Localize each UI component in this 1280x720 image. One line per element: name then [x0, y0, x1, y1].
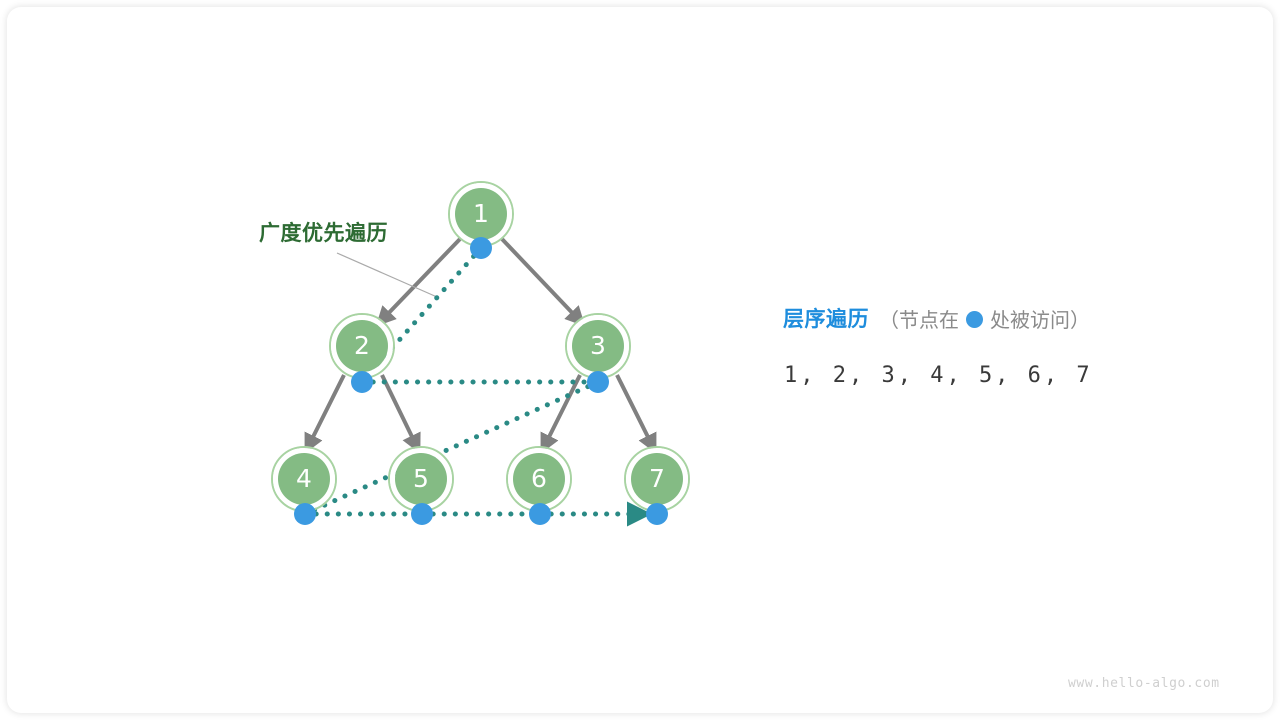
visit-dot-icon-5	[411, 503, 433, 525]
visit-dot-icon-7	[646, 503, 668, 525]
tree-node-6[interactable]: 6	[507, 447, 571, 511]
node-label: 5	[413, 464, 429, 493]
bfs-annotation-label: 广度优先遍历	[259, 217, 388, 247]
node-label: 3	[590, 331, 606, 360]
legend-paren-open: （节点在	[879, 304, 959, 333]
edge-2-4	[308, 375, 344, 447]
binary-tree-diagram: 1 2 3 4	[0, 0, 1280, 720]
node-label: 6	[531, 464, 547, 493]
edge-2-5	[382, 375, 417, 447]
screenshot-root: 1 2 3 4	[0, 0, 1280, 720]
traversal-sequence: 1, 2, 3, 4, 5, 6, 7	[784, 363, 1093, 388]
visit-dot-icon-2	[351, 371, 373, 393]
watermark: www.hello-algo.com	[1068, 676, 1220, 691]
annotation-leader-line	[337, 253, 437, 297]
node-label: 1	[473, 199, 489, 228]
tree-node-4[interactable]: 4	[272, 447, 336, 511]
tree-node-3[interactable]: 3	[566, 314, 630, 378]
node-label: 2	[354, 331, 370, 360]
legend: 层序遍历 （节点在 处被访问）	[783, 303, 1090, 333]
visit-dot-icon-3	[587, 371, 609, 393]
node-label: 4	[296, 464, 312, 493]
node-label: 7	[649, 464, 665, 493]
visit-dots	[294, 237, 668, 525]
edge-1-3	[502, 239, 580, 321]
visit-dot-icon-1	[470, 237, 492, 259]
visit-dot-icon	[966, 311, 983, 328]
visit-dot-icon-4	[294, 503, 316, 525]
tree-node-7[interactable]: 7	[625, 447, 689, 511]
legend-paren-close: 处被访问）	[990, 304, 1090, 333]
tree-node-5[interactable]: 5	[389, 447, 453, 511]
edge-3-7	[617, 375, 653, 447]
edge-1-2	[381, 239, 460, 321]
legend-title: 层序遍历	[783, 303, 869, 333]
tree-node-2[interactable]: 2	[330, 314, 394, 378]
visit-dot-icon-6	[529, 503, 551, 525]
edge-3-6	[544, 375, 580, 447]
tree-node-1[interactable]: 1	[449, 182, 513, 246]
